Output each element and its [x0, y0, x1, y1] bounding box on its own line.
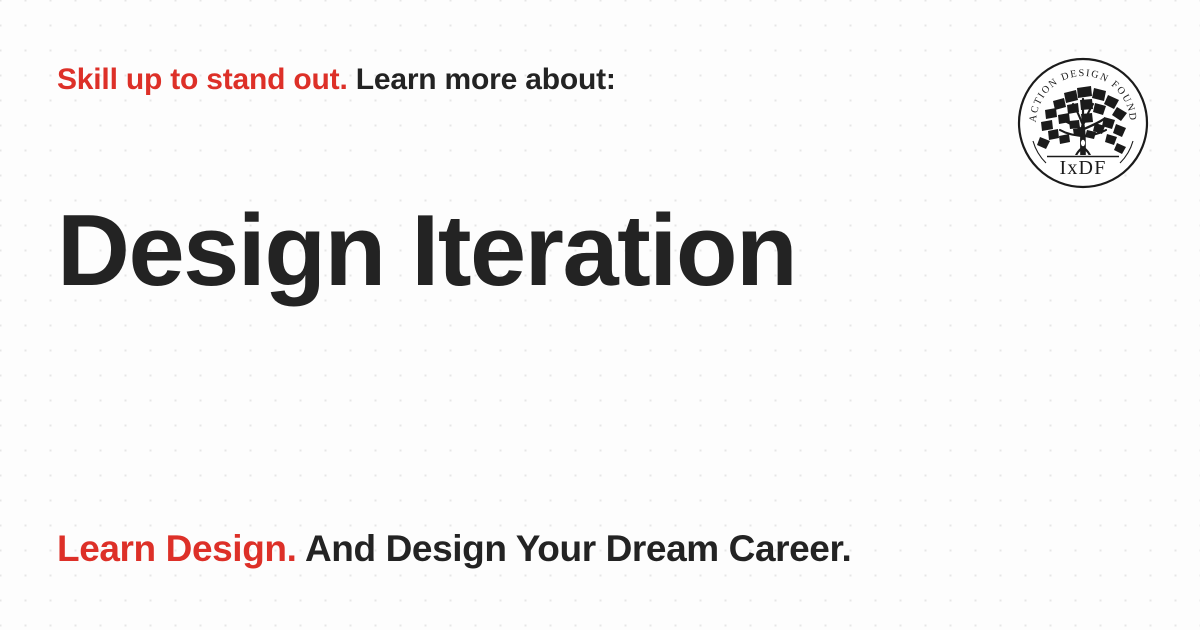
- ixdf-logo: INTERACTION DESIGN FOUNDATION: [1017, 57, 1149, 189]
- tagline-rest-text: And Design Your Dream Career.: [296, 528, 851, 569]
- eyebrow-headline: Skill up to stand out. Learn more about:: [57, 60, 616, 100]
- tagline: Learn Design. And Design Your Dream Care…: [57, 525, 851, 573]
- page-title: Design Iteration: [57, 199, 796, 303]
- poster-canvas: Skill up to stand out. Learn more about:…: [0, 0, 1200, 630]
- tagline-accent-text: Learn Design.: [57, 528, 296, 569]
- eyebrow-rest-text: Learn more about:: [348, 63, 616, 96]
- logo-wordmark: IxDF: [1059, 157, 1106, 179]
- eyebrow-accent-text: Skill up to stand out.: [57, 63, 348, 96]
